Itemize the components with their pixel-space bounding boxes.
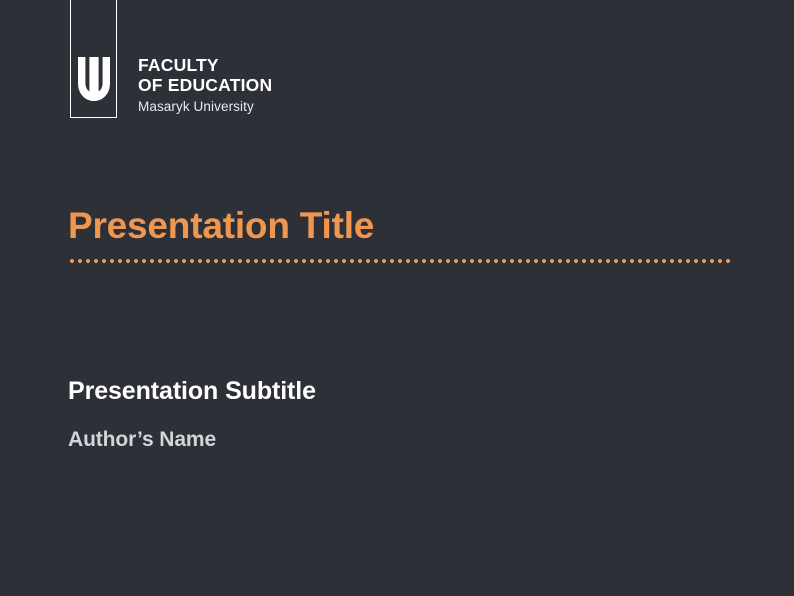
presentation-title-slide: FACULTY OF EDUCATION Masaryk University … xyxy=(0,0,794,596)
logo-frame xyxy=(70,0,117,118)
mu-monogram-icon xyxy=(78,57,110,101)
logo-education-line: OF EDUCATION xyxy=(138,75,272,95)
logo-university-line: Masaryk University xyxy=(138,97,272,116)
page-title: Presentation Title xyxy=(68,204,374,248)
dotted-separator xyxy=(68,258,730,264)
logo-faculty-line: FACULTY xyxy=(138,55,272,75)
university-logo: FACULTY OF EDUCATION Masaryk University xyxy=(70,0,272,118)
page-subtitle: Presentation Subtitle xyxy=(68,376,316,406)
logo-wordmark: FACULTY OF EDUCATION Masaryk University xyxy=(138,55,272,118)
author-name: Author’s Name xyxy=(68,427,216,453)
